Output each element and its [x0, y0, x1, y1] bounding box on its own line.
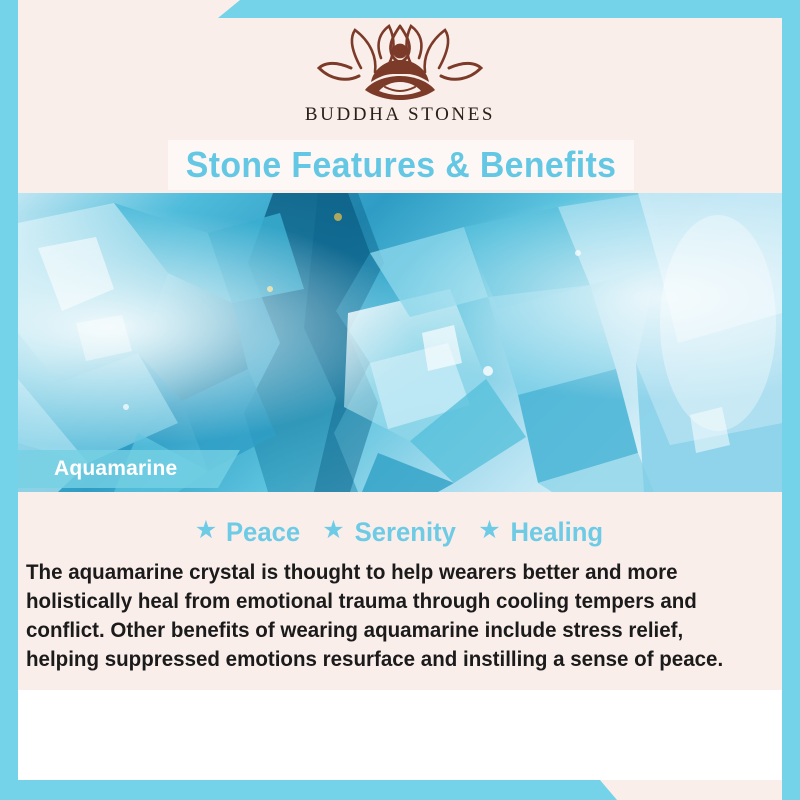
description-paragraph: The aquamarine crystal is thought to hel… — [26, 558, 740, 674]
star-icon: ★ — [478, 518, 500, 543]
hero-image — [18, 193, 782, 492]
star-icon: ★ — [322, 518, 344, 543]
brand-name-text: BUDDHA STONES — [305, 104, 495, 126]
title-banner: Stone Features & Benefits — [168, 140, 634, 190]
aquamarine-crystal-illustration — [18, 193, 782, 492]
frame-bottom-bar — [0, 780, 800, 800]
keyword-label: Healing — [510, 517, 603, 548]
frame-top-bar — [0, 0, 800, 18]
infographic-page: Aquamarine — [0, 0, 800, 800]
keyword-item-healing: ★ Healing — [478, 517, 605, 548]
lotus-meditation-icon — [315, 24, 485, 102]
keyword-label: Serenity — [354, 517, 455, 548]
keyword-label: Peace — [226, 517, 300, 548]
bottom-white-panel — [18, 690, 782, 780]
stone-name-badge: Aquamarine — [18, 450, 240, 488]
brand-header: BUDDHA STONES — [0, 18, 800, 140]
keyword-row: ★ Peace ★ Serenity ★ Healing — [18, 512, 782, 552]
keyword-item-peace: ★ Peace — [195, 517, 303, 548]
keyword-item-serenity: ★ Serenity — [322, 517, 458, 548]
page-title: Stone Features & Benefits — [186, 144, 617, 186]
stone-name-text: Aquamarine — [54, 457, 177, 481]
star-icon: ★ — [195, 518, 217, 543]
